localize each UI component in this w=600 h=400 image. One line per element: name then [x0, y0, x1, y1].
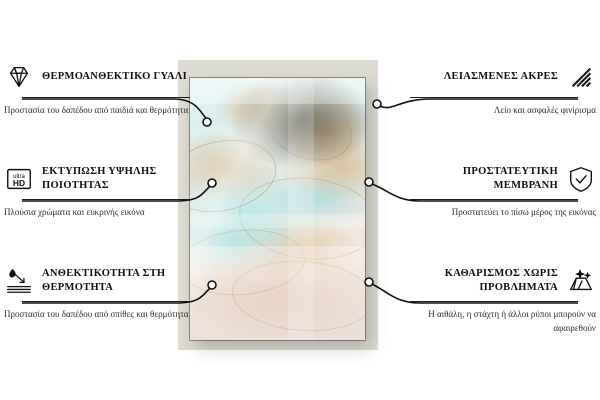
- feature-description: Προστατεύει το πίσω μέρος της εικόνας: [404, 206, 596, 220]
- product-glass-panel: [190, 78, 365, 340]
- polished-edges-icon: [566, 62, 596, 92]
- feature-description: Πλούσια χρώματα και ευκρινής εικόνα: [4, 206, 196, 220]
- diamond-icon: [4, 62, 34, 92]
- divider: [22, 301, 190, 302]
- feature-heading: ΚΑΘΑΡΙΣΜΟΣ ΧΩΡΙΣ ΠΡΟΒΛΗΜΑΤΑ: [404, 266, 596, 296]
- feature-block-heat-resistant-glass: ΘΕΡΜΟΑΝΘΕΚΤΙΚΟ ΓΥΑΛΙ Προστασία του δαπέδ…: [4, 62, 196, 118]
- flame-heat-resistance-icon: [4, 266, 34, 296]
- feature-heading: ΑΝΘΕΚΤΙΚΟΤΗΤΑ ΣΤΗ ΘΕΡΜΟΤΗΤΑ: [4, 266, 196, 296]
- svg-text:HD: HD: [13, 178, 25, 188]
- feature-title: ΘΕΡΜΟΑΝΘΕΚΤΙΚΟ ΓΥΑΛΙ: [42, 70, 187, 84]
- divider: [410, 199, 578, 200]
- feature-block-protective-membrane: ΠΡΟΣΤΑΤΕΥΤΙΚΗ ΜΕΜΒΡΑΝΗ Προστατεύει το πί…: [404, 164, 596, 220]
- feature-block-polished-edges: ΛΕΙΑΣΜΕΝΕΣ ΑΚΡΕΣ Λείο και ασφαλές φινίρι…: [404, 62, 596, 118]
- feature-title: ΠΡΟΣΤΑΤΕΥΤΙΚΗ ΜΕΜΒΡΑΝΗ: [404, 165, 558, 193]
- feature-block-heat-durability: ΑΝΘΕΚΤΙΚΟΤΗΤΑ ΣΤΗ ΘΕΡΜΟΤΗΤΑ Προστασία το…: [4, 266, 196, 322]
- infographic-canvas: ΘΕΡΜΟΑΝΘΕΚΤΙΚΟ ΓΥΑΛΙ Προστασία του δαπέδ…: [0, 0, 600, 400]
- divider: [410, 301, 578, 302]
- sparkle-clean-icon: [566, 266, 596, 296]
- feature-title: ΚΑΘΑΡΙΣΜΟΣ ΧΩΡΙΣ ΠΡΟΒΛΗΜΑΤΑ: [404, 267, 558, 295]
- feature-title: ΑΝΘΕΚΤΙΚΟΤΗΤΑ ΣΤΗ ΘΕΡΜΟΤΗΤΑ: [42, 267, 196, 295]
- feature-description: Προστασία του δαπέδου από σπίθες και θερ…: [4, 308, 196, 322]
- feature-description: Η αιθάλη, η στάχτη ή άλλοι ρύποι μπορούν…: [404, 308, 596, 335]
- feature-block-easy-cleaning: ΚΑΘΑΡΙΣΜΟΣ ΧΩΡΙΣ ΠΡΟΒΛΗΜΑΤΑ Η αιθάλη, η …: [404, 266, 596, 335]
- feature-heading: ultra HD ΕΚΤΥΠΩΣΗ ΥΨΗΛΗΣ ΠΟΙΟΤΗΤΑΣ: [4, 164, 196, 194]
- feature-description: Λείο και ασφαλές φινίρισμα: [404, 104, 596, 118]
- divider: [22, 97, 190, 98]
- feature-heading: ΘΕΡΜΟΑΝΘΕΚΤΙΚΟ ΓΥΑΛΙ: [4, 62, 196, 92]
- divider: [410, 97, 578, 98]
- shield-check-icon: [566, 164, 596, 194]
- feature-heading: ΛΕΙΑΣΜΕΝΕΣ ΑΚΡΕΣ: [404, 62, 596, 92]
- feature-title: ΕΚΤΥΠΩΣΗ ΥΨΗΛΗΣ ΠΟΙΟΤΗΤΑΣ: [42, 165, 196, 193]
- feature-heading: ΠΡΟΣΤΑΤΕΥΤΙΚΗ ΜΕΜΒΡΑΝΗ: [404, 164, 596, 194]
- feature-description: Προστασία του δαπέδου από παιδιά και θερ…: [4, 104, 196, 118]
- glass-glare: [190, 78, 330, 340]
- feature-title: ΛΕΙΑΣΜΕΝΕΣ ΑΚΡΕΣ: [444, 70, 558, 84]
- feature-block-high-quality-print: ultra HD ΕΚΤΥΠΩΣΗ ΥΨΗΛΗΣ ΠΟΙΟΤΗΤΑΣ Πλούσ…: [4, 164, 196, 220]
- divider: [22, 199, 190, 200]
- ultra-hd-badge-icon: ultra HD: [4, 164, 34, 194]
